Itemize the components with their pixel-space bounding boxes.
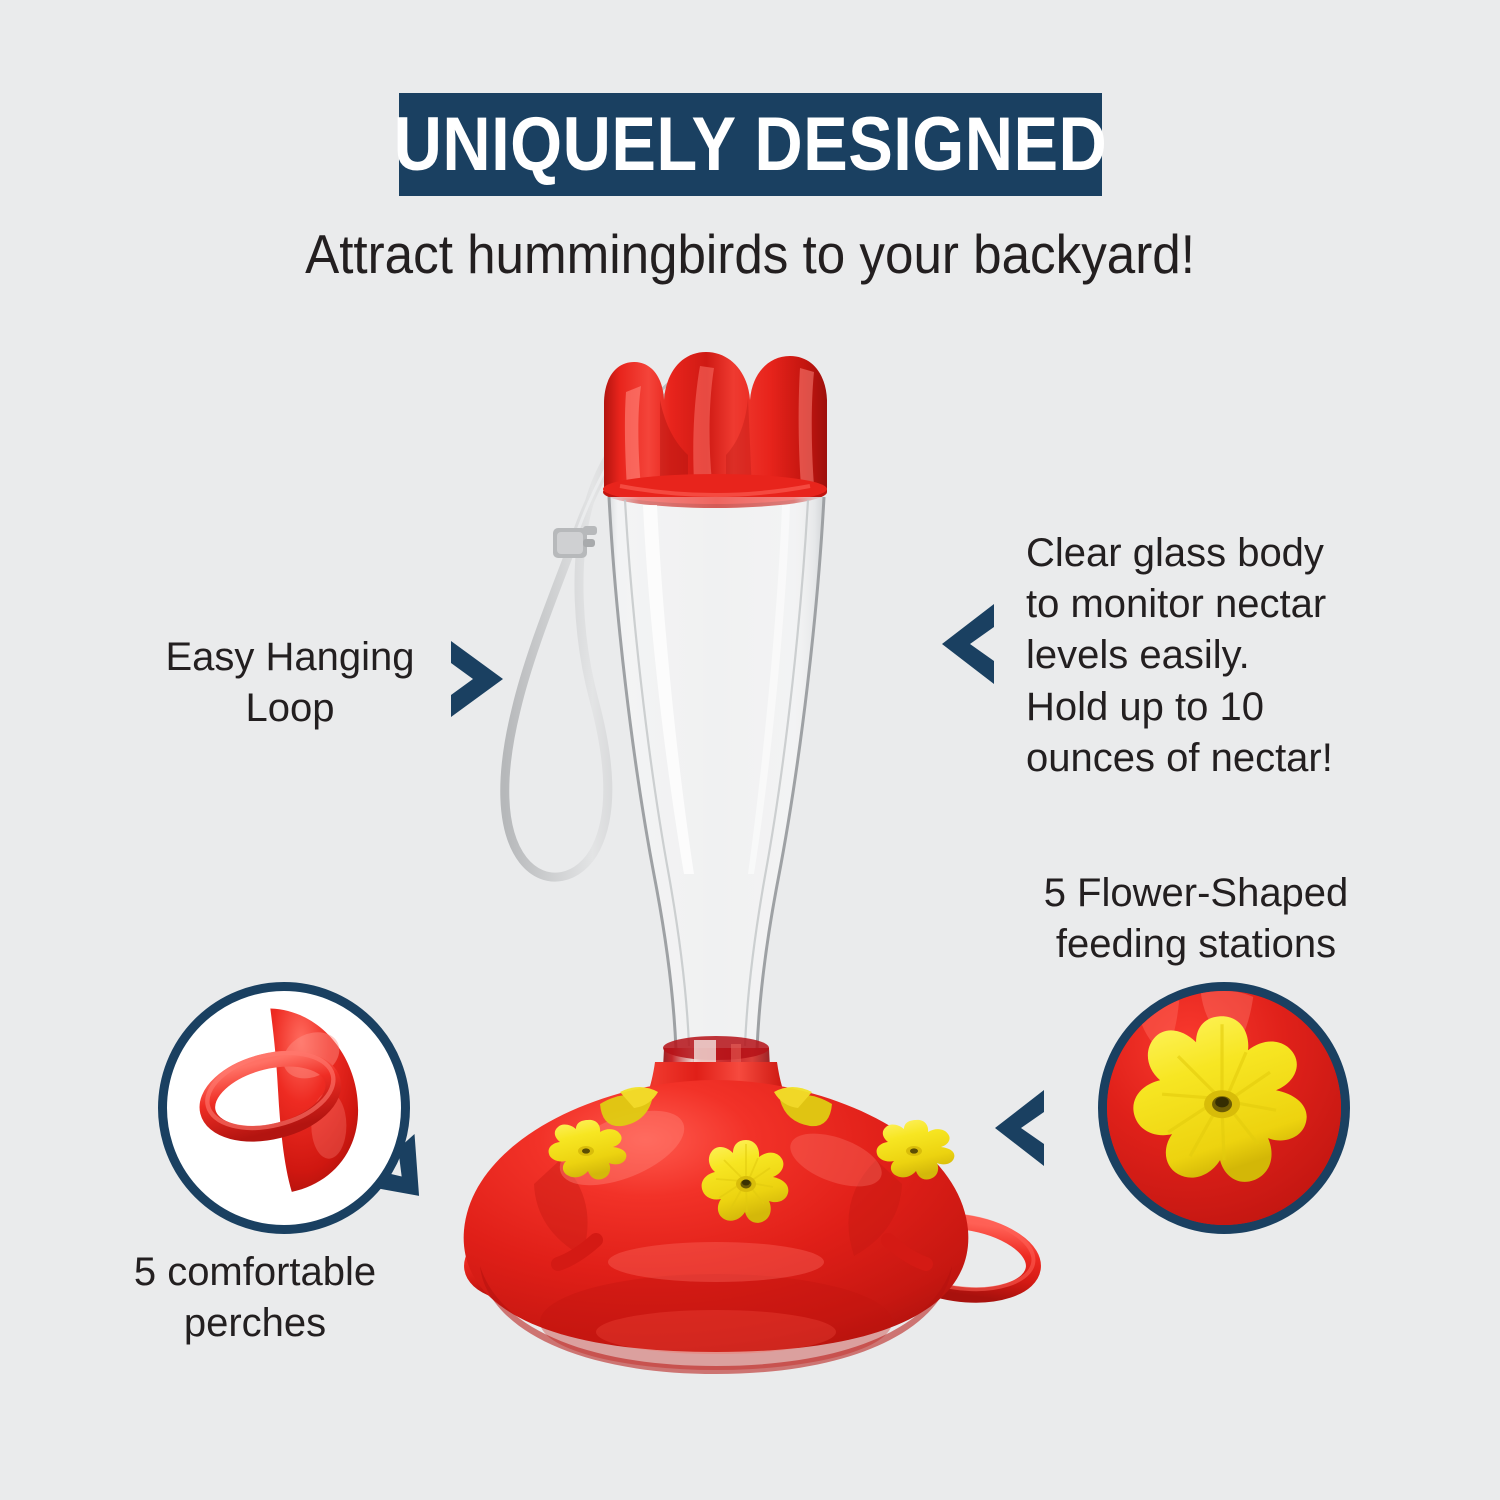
feeder-cap [603, 352, 827, 508]
glass-body [609, 497, 824, 1050]
annotation-hanging-loop: Easy Hanging Loop [120, 632, 460, 734]
page-subtitle: Attract hummingbirds to your backyard! [53, 222, 1448, 286]
feeder-base [464, 1062, 969, 1374]
flower-port-closeup-illustration [1107, 991, 1341, 1225]
page-title: UNIQUELY DESIGNED [394, 107, 1108, 183]
callout-perch-closeup [158, 982, 410, 1234]
title-banner: UNIQUELY DESIGNED [399, 93, 1102, 196]
loop-clasp-icon [553, 526, 597, 558]
annotation-clear-glass-body: Clear glass body to monitor nectar level… [1026, 528, 1376, 784]
infographic-page: UNIQUELY DESIGNED Attract hummingbirds t… [0, 0, 1500, 1500]
chevron-left-icon [936, 598, 998, 690]
annotation-feeding-stations: 5 Flower-Shaped feeding stations [1020, 868, 1372, 970]
annotation-perches: 5 comfortable perches [95, 1247, 415, 1349]
callout-flower-closeup [1098, 982, 1350, 1234]
perch-ring-closeup-illustration [167, 991, 401, 1225]
chevron-left-icon [990, 1085, 1048, 1171]
chevron-right-icon [447, 635, 509, 723]
